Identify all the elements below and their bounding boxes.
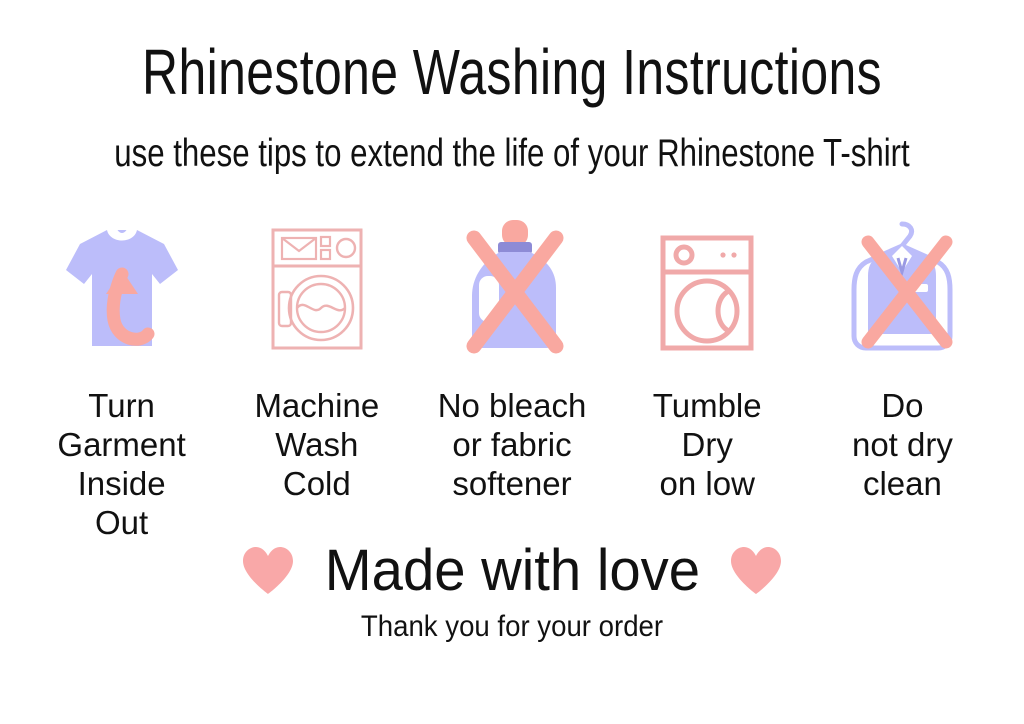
no-bleach-bottle-icon <box>452 216 572 356</box>
tshirt-inside-out-icon <box>62 222 182 356</box>
instruction-caption-turn-garment-inside-out: Turn Garment Inside Out <box>24 386 219 542</box>
page-subtitle: use these tips to extend the life of you… <box>102 131 921 177</box>
instruction-icon-cell <box>805 214 1000 356</box>
instruction-caption-machine-wash-cold: Machine Wash Cold <box>219 386 414 503</box>
made-with-love-row: Made with love <box>0 538 1024 604</box>
heart-icon <box>241 546 295 596</box>
instruction-icon-cell <box>414 214 609 356</box>
no-dry-clean-icon <box>840 216 964 356</box>
page-title: Rhinestone Washing Instructions <box>113 36 912 108</box>
heart-icon <box>729 546 783 596</box>
washing-instructions-card: Rhinestone Washing Instructions use thes… <box>0 0 1024 724</box>
instruction-icon-cell <box>24 214 219 356</box>
instruction-caption-no-bleach: No bleach or fabric softener <box>414 386 609 503</box>
instruction-icon-row <box>24 214 1000 356</box>
instruction-icon-cell <box>610 214 805 356</box>
instruction-caption-tumble-dry-low: Tumble Dry on low <box>610 386 805 503</box>
instruction-caption-no-dry-clean: Do not dry clean <box>805 386 1000 503</box>
made-with-love-text: Made with love <box>324 538 699 604</box>
instruction-caption-row: Turn Garment Inside Out Machine Wash Col… <box>24 386 1000 542</box>
washing-machine-icon <box>263 222 371 356</box>
instruction-icon-cell <box>219 214 414 356</box>
thank-you-text: Thank you for your order <box>41 608 983 646</box>
tumble-dryer-icon <box>655 230 759 356</box>
